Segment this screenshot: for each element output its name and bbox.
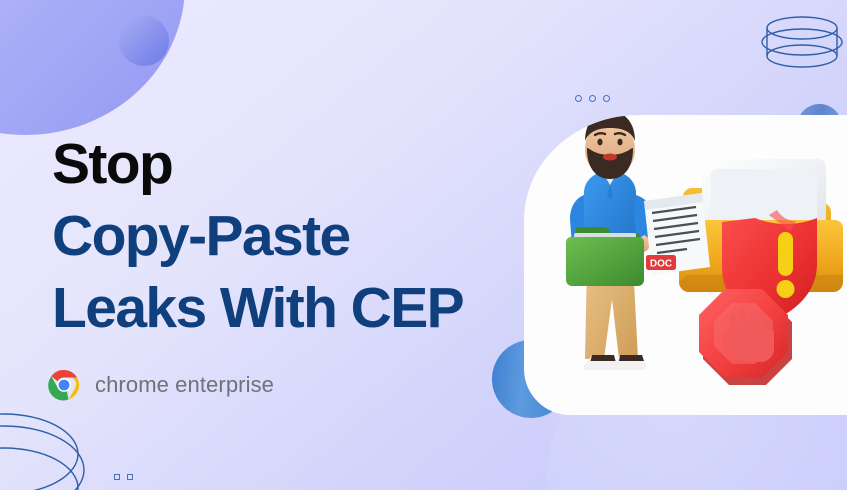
circle-topleft-accent-decoration	[119, 16, 169, 66]
headline-line-2: Copy-Paste	[52, 200, 463, 272]
illustration-card: DOC	[524, 115, 847, 415]
dot-icon	[127, 474, 133, 480]
dots-above-card-decoration	[575, 95, 610, 102]
dot-icon	[589, 95, 596, 102]
green-folder-graphic	[566, 227, 644, 286]
dots-bottom-left-decoration	[114, 474, 133, 480]
coil-bottomleft-decoration	[0, 408, 102, 490]
coil-topright-decoration	[758, 12, 846, 76]
dot-icon	[603, 95, 610, 102]
shoe-right	[613, 355, 646, 370]
headline-line-3: Leaks With CEP	[52, 272, 463, 344]
doc-badge-label: DOC	[650, 259, 672, 270]
brand-lockup: chrome enterprise	[46, 367, 274, 403]
exclamation-bar	[778, 232, 793, 276]
headline-block: Stop Copy-Paste Leaks With CEP	[52, 128, 463, 344]
dot-icon	[114, 474, 120, 480]
eye-right	[617, 139, 622, 146]
exclamation-dot	[777, 280, 795, 298]
promo-banner: DOC Stop Copy-Paste Leaks With CEP chrom…	[0, 0, 847, 490]
doc-sheet-graphic: DOC	[644, 193, 710, 275]
illustration-graphic: DOC	[524, 115, 847, 415]
chrome-logo-icon	[46, 367, 82, 403]
headline-line-1: Stop	[52, 128, 463, 200]
dot-icon	[575, 95, 582, 102]
eye-left	[597, 139, 602, 146]
brand-name-label: chrome enterprise	[95, 372, 274, 398]
blob-topleft-decoration	[0, 0, 185, 135]
